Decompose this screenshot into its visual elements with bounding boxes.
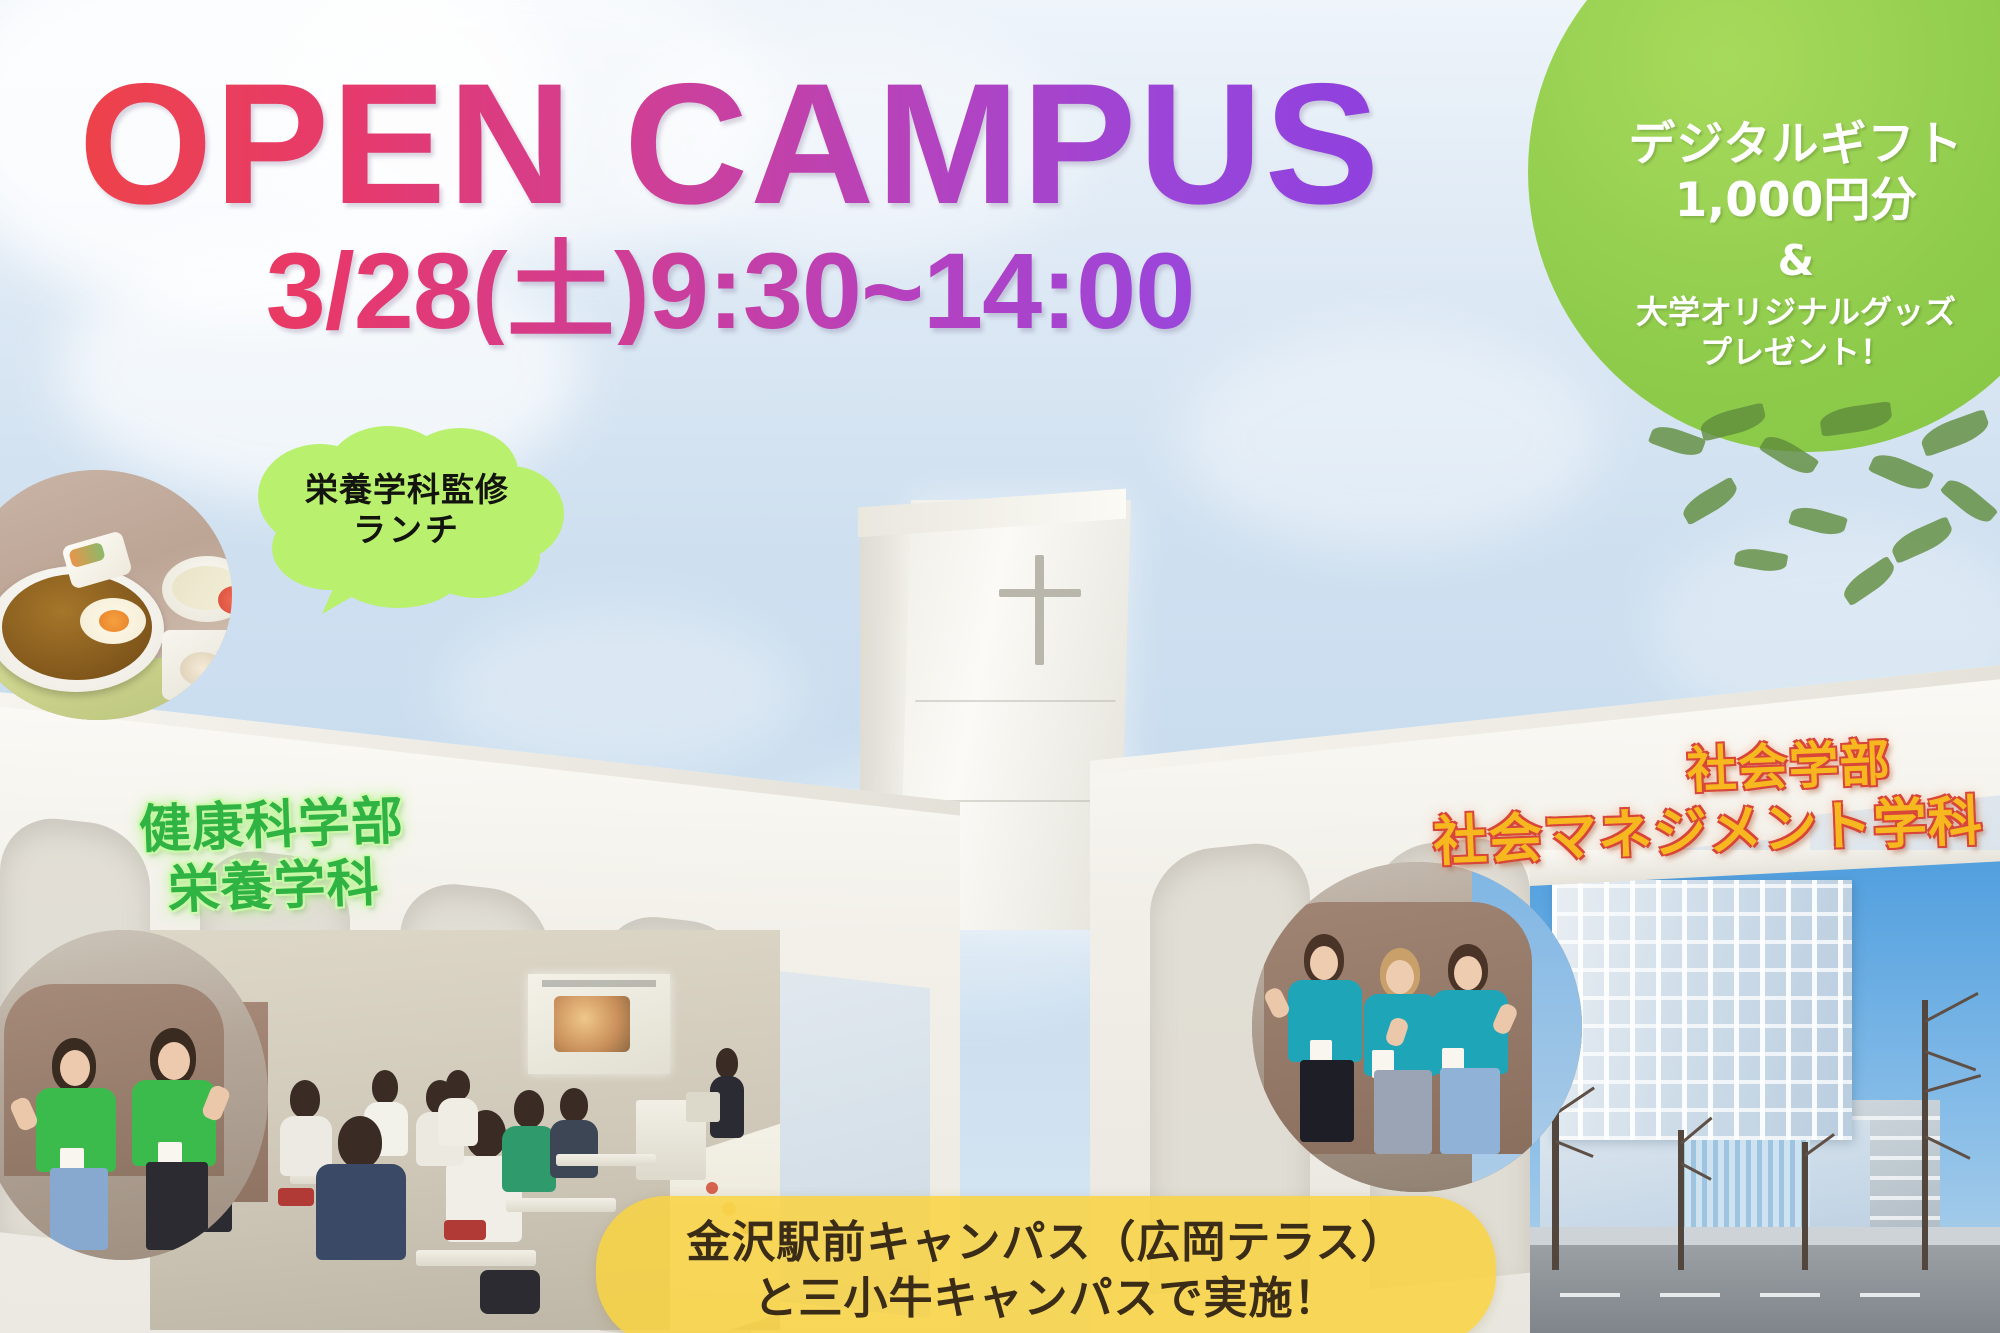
event-date-time: 3/28(土)9:30~14:00 — [0, 237, 1460, 345]
dept-label-health-science: 健康科学部 栄養学科 — [138, 791, 407, 923]
dept-left-line-2: 栄養学科 — [140, 853, 407, 924]
venue-line-1: 金沢駅前キャンパス（広岡テラス） — [686, 1215, 1405, 1271]
bubble-line-2: ランチ — [248, 510, 566, 550]
gift-line-4: プレゼント！ — [1628, 332, 1963, 372]
nutrition-lunch-photo — [0, 470, 232, 720]
gift-ampersand: & — [1628, 229, 1963, 292]
venue-banner: 金沢駅前キャンパス（広岡テラス） と三小牛キャンパスで実施！ — [596, 1196, 1496, 1333]
open-campus-poster: OPEN CAMPUS 3/28(土)9:30~14:00 デジタルギフト 1,… — [0, 0, 2000, 1333]
cloud-shape — [1180, 330, 1600, 550]
campus-building-photo — [1530, 850, 2000, 1333]
dept-label-social-science: 社会学部 社会マネジメント学科 — [1430, 729, 1984, 875]
dept-left-line-1: 健康科学部 — [138, 791, 405, 862]
teal-tshirt-students-photo — [1252, 862, 1582, 1192]
bubble-line-1: 栄養学科監修 — [248, 470, 566, 510]
title-block: OPEN CAMPUS 3/28(土)9:30~14:00 — [0, 60, 1460, 345]
venue-line-2: と三小牛キャンパスで実施！ — [686, 1271, 1405, 1327]
lunch-speech-bubble: 栄養学科監修 ランチ — [248, 424, 566, 614]
cross-icon — [1035, 555, 1044, 665]
page-title: OPEN CAMPUS — [0, 60, 1460, 229]
gift-line-1: デジタルギフト — [1628, 119, 1963, 172]
green-tshirt-students-photo — [0, 930, 268, 1260]
gift-amount: 1,000円分 — [1628, 172, 1963, 229]
gift-line-3: 大学オリジナルグッズ — [1628, 292, 1963, 332]
tree-foliage — [1640, 400, 2000, 660]
